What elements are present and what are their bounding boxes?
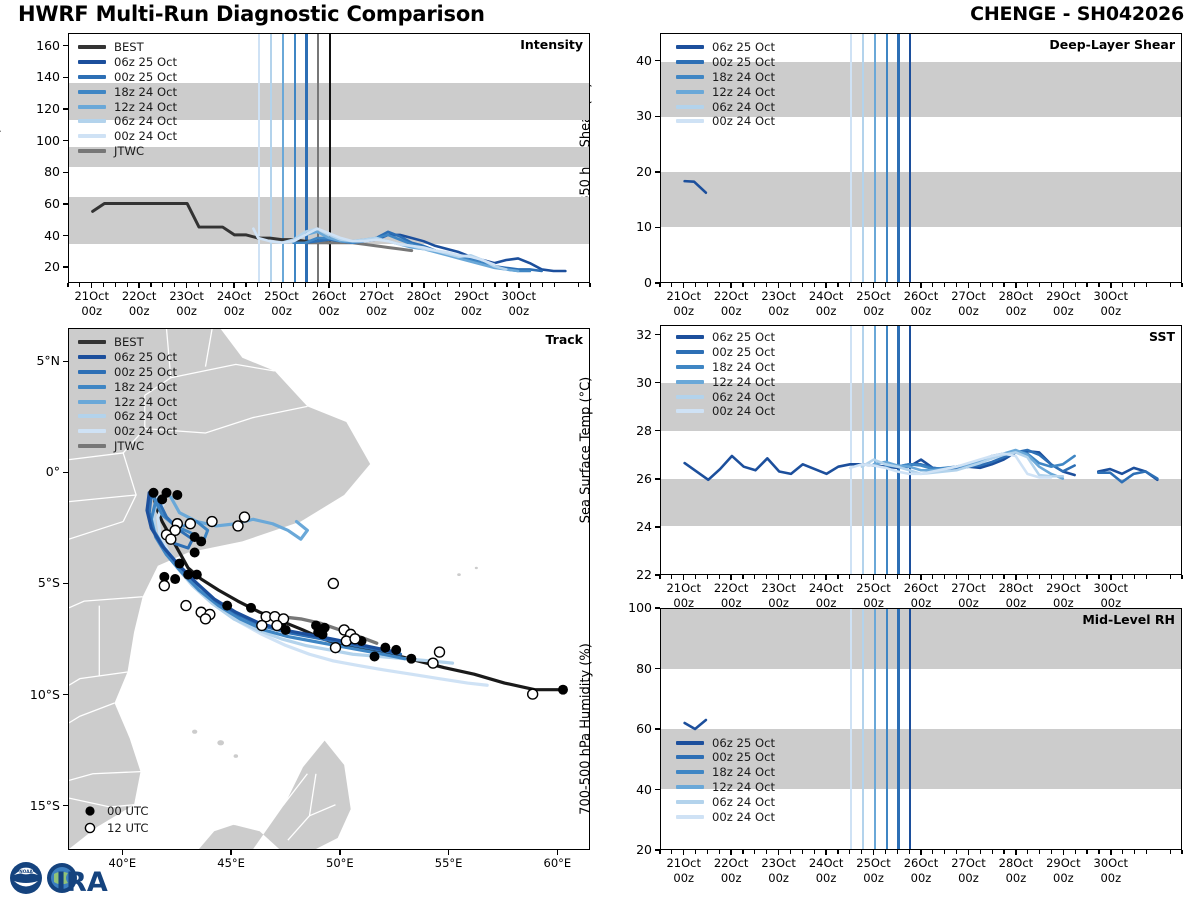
storm-identifier: CHENGE - SH042026 [970,3,1184,25]
x-tick-date: 24Oct [217,289,252,303]
track-marker-00utc [406,654,416,664]
x-minor-tick [1027,283,1028,287]
x-minor-tick [150,283,151,287]
x-tick-mark [825,575,826,580]
track-marker-12utc [185,519,195,529]
x-tick-date: 25Oct [856,581,891,595]
x-tick-mark [1015,850,1016,855]
y-tick-label: 40 [20,228,60,243]
y-tick-label: 80 [612,661,652,676]
x-minor-tick [1098,850,1099,854]
x-tick-date: 29Oct [1046,856,1081,870]
x-minor-tick [494,283,495,287]
x-minor-tick [992,850,993,854]
legend-color-swatch [676,75,704,79]
x-minor-tick [719,850,720,854]
x-tick-date: 21Oct [666,289,701,303]
x-tick-time: 00z [816,304,837,318]
x-minor-tick [909,575,910,579]
legend-color-swatch [78,414,106,418]
y-tick-mark [655,60,660,61]
svg-text:IRA: IRA [56,867,108,898]
x-tick-date: 28Oct [999,856,1034,870]
svg-text:NOAA: NOAA [19,869,33,874]
x-minor-tick [659,283,660,287]
legend-row: 18z 24 Oct [78,84,177,99]
x-minor-tick [980,575,981,579]
y-tick-label: 32 [612,327,652,342]
legend-color-swatch [78,429,106,433]
island-4 [475,567,478,569]
x-minor-tick [1134,575,1135,579]
x-tick-mark [91,283,92,288]
legend-row: 06z 25 Oct [676,40,775,55]
x-tick-mark [825,283,826,288]
x-tick-mark [471,283,472,288]
track-marker-00utc [391,645,401,655]
lat-tick-mark [63,694,68,695]
x-tick-mark [376,283,377,288]
y-tick-mark [655,430,660,431]
legend-label: 18z 24 Oct [712,765,775,779]
x-minor-tick [719,575,720,579]
x-minor-tick [1170,575,1171,579]
y-tick-mark [63,266,68,267]
x-minor-tick [659,850,660,854]
track-marker-12utc [528,689,538,699]
x-minor-tick [790,850,791,854]
x-tick-date: 25Oct [264,289,299,303]
x-minor-tick [245,283,246,287]
track-marker-12utc [201,614,211,624]
series-line [685,181,706,193]
x-minor-tick [885,283,886,287]
x-minor-tick [814,283,815,287]
legend-label: 00z 24 Oct [114,424,177,438]
x-tick-mark [423,283,424,288]
track-marker-00utc [175,559,185,569]
x-tick-time: 00z [271,304,292,318]
x-tick-mark [873,283,874,288]
x-tick-date: 28Oct [407,289,442,303]
x-tick-time: 00z [461,304,482,318]
y-tick-mark [655,382,660,383]
legend-label: 12z 24 Oct [712,375,775,389]
x-tick-date: 23Oct [761,581,796,595]
x-minor-tick [695,283,696,287]
x-tick-mark [825,850,826,855]
x-minor-tick [305,283,306,287]
x-tick-date: 30Oct [1094,581,1129,595]
x-minor-tick [885,850,886,854]
x-tick-time: 00z [1006,304,1027,318]
legend-row: 00z 25 Oct [676,55,775,70]
y-tick-label: 26 [612,471,652,486]
y-tick-label: 20 [612,164,652,179]
x-minor-tick [837,850,838,854]
x-tick-time: 00z [414,304,435,318]
x-tick-time: 00z [81,304,102,318]
x-tick-label: 30Oct00z [1079,581,1143,611]
legend-label: 00z 24 Oct [712,404,775,418]
legend-label: JTWC [114,144,144,158]
track-marker-00utc [380,643,390,653]
x-tick-date: 23Oct [761,856,796,870]
y-tick-label: 80 [20,164,60,179]
x-tick-mark [730,850,731,855]
track-marker-00utc [558,685,568,695]
x-minor-tick [742,850,743,854]
x-minor-tick [849,283,850,287]
x-tick-date: 29Oct [1046,581,1081,595]
legend-row: 00z 25 Oct [676,345,775,360]
x-minor-tick [1146,575,1147,579]
y-tick-mark [63,172,68,173]
x-minor-tick [671,850,672,854]
x-minor-tick [837,575,838,579]
x-minor-tick [707,850,708,854]
x-tick-time: 00z [129,304,150,318]
legend-color-swatch [676,741,704,745]
x-tick-mark [778,283,779,288]
legend-row: 00z 24 Oct [78,424,177,439]
series-line [1098,471,1157,482]
x-tick-mark [920,850,921,855]
x-minor-tick [897,850,898,854]
y-axis-label: Sea Surface Temp (°C) [579,377,594,524]
x-minor-tick [754,283,755,287]
x-minor-tick [1075,850,1076,854]
x-minor-tick [447,283,448,287]
x-minor-tick [742,575,743,579]
track-marker-12utc [428,658,438,668]
x-tick-mark [1110,850,1111,855]
legend-color-swatch [676,785,704,789]
x-minor-tick [1003,575,1004,579]
track-marker-00utc [170,574,180,584]
legend-row: 00z 25 Oct [78,365,177,380]
y-tick-label: 22 [612,567,652,582]
legend-row: 18z 24 Oct [676,360,775,375]
island-3 [457,573,461,576]
x-minor-tick [293,283,294,287]
x-minor-tick [400,283,401,287]
legend-label: 18z 24 Oct [712,70,775,84]
x-minor-tick [435,283,436,287]
x-minor-tick [1170,283,1171,287]
track-marker-12utc [159,581,169,591]
x-minor-tick [411,283,412,287]
track-marker-00utc [149,488,159,498]
track-panel-title: Track [546,332,583,347]
y-tick-mark [655,526,660,527]
page-title: HWRF Multi-Run Diagnostic Comparison [18,2,485,26]
x-tick-mark [328,283,329,288]
x-tick-mark [683,575,684,580]
x-tick-time: 00z [958,304,979,318]
x-tick-mark [683,850,684,855]
legend-color-swatch [78,400,106,404]
x-minor-tick [554,283,555,287]
x-minor-tick [909,283,910,287]
x-tick-date: 29Oct [454,289,489,303]
x-tick-label: 30Oct00z [1079,289,1143,319]
track-marker-00utc [190,548,200,558]
x-minor-tick [115,283,116,287]
track-marker-12utc [257,621,267,631]
x-minor-tick [1122,575,1123,579]
lon-tick-mark [122,850,123,855]
x-tick-mark [1063,575,1064,580]
x-minor-tick [1134,283,1135,287]
y-tick-mark [655,607,660,608]
x-minor-tick [1039,575,1040,579]
legend-label: 06z 24 Oct [114,409,177,423]
x-minor-tick [103,283,104,287]
x-tick-mark [186,283,187,288]
rh-panel: Mid-Level RH 06z 25 Oct00z 25 Oct18z 24 … [660,608,1182,850]
legend-label: 00z 25 Oct [114,365,177,379]
track-legend: BEST06z 25 Oct00z 25 Oct18z 24 Oct12z 24… [78,335,177,453]
legend-color-swatch [676,380,704,384]
track-marker-12utc [328,578,338,588]
x-minor-tick [317,283,318,287]
y-tick-label: 100 [20,133,60,148]
x-minor-tick [1039,283,1040,287]
x-minor-tick [802,575,803,579]
legend-color-swatch [78,149,106,153]
x-tick-date: 23Oct [761,289,796,303]
y-tick-label: 40 [612,782,652,797]
sst-legend: 06z 25 Oct00z 25 Oct18z 24 Oct12z 24 Oct… [676,330,775,419]
x-tick-mark [233,283,234,288]
x-minor-tick [956,283,957,287]
y-tick-mark [655,728,660,729]
track-marker-00utc [192,570,202,580]
x-minor-tick [932,575,933,579]
noaa-seal-icon: NOAA [10,862,42,894]
x-minor-tick [79,283,80,287]
x-minor-tick [340,283,341,287]
legend-row: 06z 25 Oct [676,735,775,750]
legend-label: 06z 24 Oct [114,114,177,128]
legend-row: 12z 24 Oct [676,374,775,389]
track-marker-12utc [233,521,243,531]
lat-tick-label: 0° [16,464,60,479]
legend-label: 06z 25 Oct [712,40,775,54]
x-tick-time: 00z [1100,304,1121,318]
x-minor-tick [944,575,945,579]
legend-row: 00z 24 Oct [676,404,775,419]
x-tick-time: 00z [673,871,694,885]
x-minor-tick [174,283,175,287]
x-tick-date: 28Oct [999,581,1034,595]
y-tick-mark [655,334,660,335]
x-minor-tick [707,575,708,579]
track-panel: Track BEST06z 25 Oct00z 25 Oct18z 24 Oct… [68,328,590,850]
shear-legend: 06z 25 Oct00z 25 Oct18z 24 Oct12z 24 Oct… [676,40,775,129]
series-line [685,720,706,729]
lon-tick-mark [230,850,231,855]
x-tick-date: 29Oct [1046,289,1081,303]
x-tick-date: 22Oct [122,289,157,303]
legend-color-swatch [78,119,106,123]
lon-tick-label: 60°E [525,856,589,871]
x-minor-tick [671,283,672,287]
x-minor-tick [944,850,945,854]
legend-row: 06z 24 Oct [676,794,775,809]
legend-label: 00z 25 Oct [712,750,775,764]
shear-panel-title: Deep-Layer Shear [1049,37,1175,52]
x-minor-tick [162,283,163,287]
y-axis-label: 10m Max Wind Speed (kt) [0,74,2,243]
legend-row: 18z 24 Oct [676,765,775,780]
x-tick-date: 25Oct [856,289,891,303]
x-tick-time: 00z [768,871,789,885]
x-tick-mark [683,283,684,288]
cira-wordmark: IRA [47,863,108,898]
x-tick-time: 00z [176,304,197,318]
x-tick-date: 22Oct [714,581,749,595]
legend-row: JTWC [78,439,177,454]
sst-panel: SST 06z 25 Oct00z 25 Oct18z 24 Oct12z 24… [660,325,1182,575]
series-line [850,454,1051,478]
lat-tick-mark [63,361,68,362]
x-minor-tick [897,283,898,287]
x-tick-time: 00z [721,871,742,885]
x-minor-tick [814,575,815,579]
y-tick-mark [63,140,68,141]
legend-label: 06z 25 Oct [712,330,775,344]
x-minor-tick [542,283,543,287]
x-tick-date: 24Oct [809,581,844,595]
legend-color-swatch [676,335,704,339]
x-minor-tick [980,850,981,854]
y-tick-mark [63,45,68,46]
lat-tick-label: 15°S [16,798,60,813]
y-tick-mark [63,235,68,236]
legend-color-swatch [676,350,704,354]
x-tick-date: 27Oct [951,289,986,303]
x-minor-tick [1086,850,1087,854]
legend-label: 18z 24 Oct [114,85,177,99]
cira-noaa-logo: NOAA IRA [6,858,156,898]
y-tick-label: 60 [20,196,60,211]
x-tick-time: 00z [1053,304,1074,318]
legend-color-swatch [676,815,704,819]
marker-legend-row: 00 UTC [82,802,148,819]
legend-label: 12z 24 Oct [114,100,177,114]
x-tick-time: 00z [958,871,979,885]
x-tick-mark [778,575,779,580]
track-marker-00utc [183,570,193,580]
island-1 [192,730,197,734]
x-tick-time: 00z [366,304,387,318]
legend-color-swatch [676,395,704,399]
x-minor-tick [1003,283,1004,287]
x-minor-tick [578,283,579,287]
x-minor-tick [269,283,270,287]
x-tick-mark [1015,283,1016,288]
x-tick-date: 30Oct [1094,289,1129,303]
y-tick-label: 160 [20,38,60,53]
legend-row: BEST [78,335,177,350]
lat-tick-mark [63,472,68,473]
x-tick-date: 27Oct [951,581,986,595]
x-minor-tick [790,575,791,579]
x-minor-tick [210,283,211,287]
x-minor-tick [1122,283,1123,287]
lat-tick-mark [63,805,68,806]
legend-color-swatch [78,370,106,374]
x-tick-time: 00z [1053,871,1074,885]
x-tick-mark [873,850,874,855]
legend-row: 06z 25 Oct [676,330,775,345]
x-tick-date: 21Oct [74,289,109,303]
legend-row: BEST [78,40,177,55]
legend-row: 12z 24 Oct [78,99,177,114]
x-minor-tick [257,283,258,287]
legend-color-swatch [676,755,704,759]
series-line [93,204,329,243]
legend-color-swatch [78,75,106,79]
x-tick-mark [1110,283,1111,288]
x-tick-mark [920,283,921,288]
legend-color-swatch [78,134,106,138]
x-tick-time: 00z [1006,871,1027,885]
x-minor-tick [695,850,696,854]
x-tick-time: 00z [721,304,742,318]
island-2 [234,754,238,758]
track-marker-12utc [331,643,341,653]
x-minor-tick [861,575,862,579]
x-tick-date: 26Oct [904,289,939,303]
legend-label: 06z 25 Oct [114,350,177,364]
y-tick-mark [655,478,660,479]
x-minor-tick [932,850,933,854]
x-tick-time: 00z [673,304,694,318]
x-tick-time: 00z [1100,871,1121,885]
y-tick-label: 20 [20,259,60,274]
x-tick-mark [1063,850,1064,855]
x-minor-tick [707,283,708,287]
lat-tick-mark [63,583,68,584]
track-marker-00utc [172,490,182,500]
x-minor-tick [980,283,981,287]
y-tick-label: 20 [612,842,652,857]
x-minor-tick [1051,283,1052,287]
legend-color-swatch [676,119,704,123]
legend-label: 00z 25 Oct [114,70,177,84]
x-minor-tick [1039,850,1040,854]
y-tick-mark [655,227,660,228]
x-tick-time: 00z [863,871,884,885]
track-marker-12utc [272,621,282,631]
x-minor-tick [1181,283,1182,287]
y-tick-label: 140 [20,69,60,84]
legend-label: 00z 24 Oct [114,129,177,143]
x-minor-tick [944,283,945,287]
y-tick-label: 40 [612,53,652,68]
lon-tick-mark [448,850,449,855]
x-tick-date: 23Oct [169,289,204,303]
x-tick-time: 00z [911,871,932,885]
y-tick-label: 100 [612,600,652,615]
legend-row: 06z 24 Oct [78,114,177,129]
x-minor-tick [849,850,850,854]
legend-label: JTWC [114,439,144,453]
x-minor-tick [897,575,898,579]
